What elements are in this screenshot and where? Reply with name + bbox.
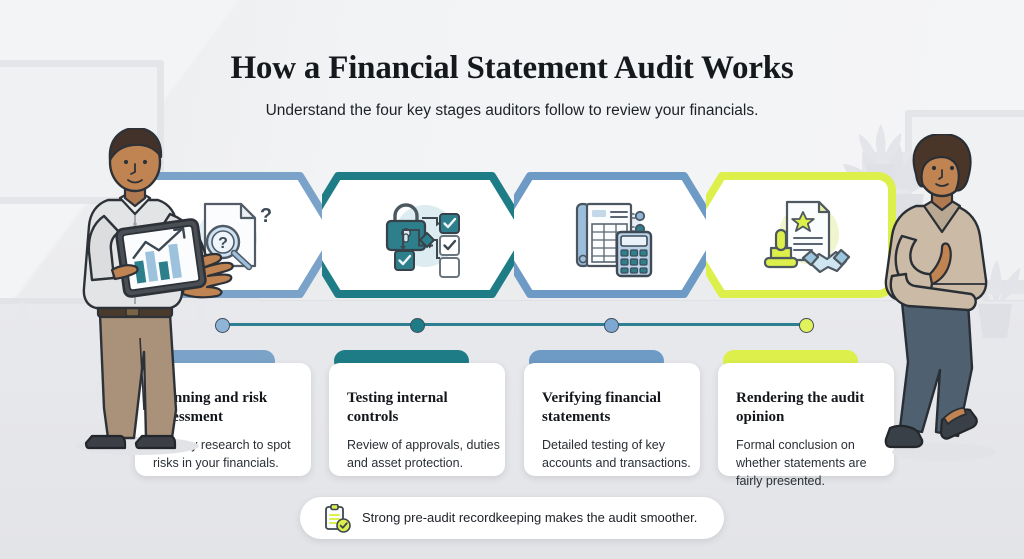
- bottom-tip-banner: Strong pre-audit recordkeeping makes the…: [300, 497, 724, 539]
- stage-card-2[interactable]: Testing internal controls Review of appr…: [329, 363, 505, 476]
- timeline-dot-2[interactable]: [410, 318, 425, 333]
- timeline-dot-3[interactable]: [604, 318, 619, 333]
- stage-card-4-body: Formal conclusion on whether statements …: [736, 437, 890, 490]
- background-desk-leg-left: [18, 302, 26, 358]
- certificate-stamp-handshake-icon: [757, 188, 857, 284]
- bottom-tip-text: Strong pre-audit recordkeeping makes the…: [362, 510, 697, 525]
- stage-card-2-body: Review of approvals, duties and asset pr…: [347, 437, 501, 473]
- padlock-flowchart-checklist-icon: [373, 188, 473, 284]
- page-subtitle: Understand the four key stages auditors …: [0, 102, 1024, 120]
- timeline-connector: [222, 323, 808, 326]
- man-presenting-tablet-illustration: [52, 128, 242, 458]
- timeline-dot-4[interactable]: [799, 318, 814, 333]
- stage-card-3-body: Detailed testing of key accounts and tra…: [542, 437, 696, 473]
- stage-card-2-heading: Testing internal controls: [347, 389, 497, 427]
- clipboard-check-icon: [322, 504, 352, 534]
- svg-text:?: ?: [260, 205, 272, 227]
- ledger-calculator-icon: [563, 188, 663, 284]
- stage-card-4-heading: Rendering the audit opinion: [736, 389, 886, 427]
- woman-thinking-illustration: [872, 134, 1012, 464]
- stage-card-3-heading: Verifying financial statements: [542, 389, 692, 427]
- stage-card-4[interactable]: Rendering the audit opinion Formal concl…: [718, 363, 894, 476]
- stage-card-3[interactable]: Verifying financial statements Detailed …: [524, 363, 700, 476]
- page-title: How a Financial Statement Audit Works: [0, 50, 1024, 87]
- infographic-canvas: How a Financial Statement Audit Works Un…: [0, 0, 1024, 559]
